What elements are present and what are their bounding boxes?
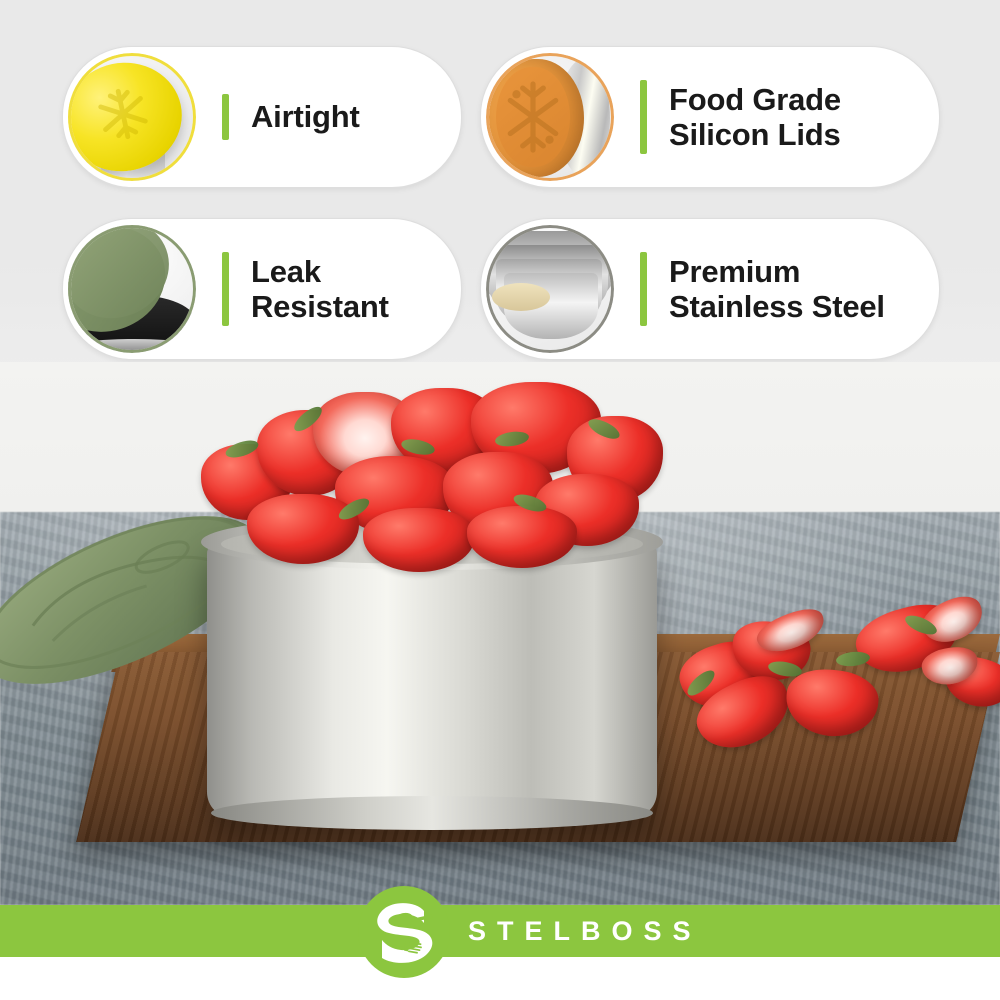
badge-accent-bar	[222, 252, 229, 326]
hero-product-photo	[0, 362, 1000, 905]
orange-silicone-lid-icon	[486, 53, 614, 181]
strawberry-pile	[195, 382, 675, 572]
feature-label-line: Food Grade	[669, 82, 841, 117]
nested-steel-bowls-icon	[486, 225, 614, 353]
yellow-silicone-lid-icon	[68, 53, 196, 181]
feature-label-food-grade-silicon-lids: Food Grade Silicon Lids	[669, 82, 841, 152]
green-lid-open-container-icon	[68, 225, 196, 353]
feature-badge-premium-stainless-steel[interactable]: Premium Stainless Steel	[480, 218, 940, 360]
feature-badge-grid: Airtight	[62, 46, 938, 358]
feature-label-line: Silicon Lids	[669, 117, 841, 152]
logo-s-glyph	[367, 895, 441, 969]
brand-name: STELBOSS	[468, 916, 702, 947]
feature-label-line: Leak	[251, 254, 389, 289]
badge-accent-bar	[640, 252, 647, 326]
badge-accent-bar	[640, 80, 647, 154]
feature-badge-food-grade-silicon-lids[interactable]: Food Grade Silicon Lids	[480, 46, 940, 188]
stelboss-spoon-fork-s-logo	[358, 886, 450, 978]
feature-label-leak-resistant: Leak Resistant	[251, 254, 389, 324]
product-infographic: Airtight	[0, 0, 1000, 1000]
feature-label-premium-stainless-steel: Premium Stainless Steel	[669, 254, 885, 324]
badge-accent-bar	[222, 94, 229, 140]
loose-strawberries	[660, 600, 1000, 760]
feature-label-line: Stainless Steel	[669, 289, 885, 324]
stainless-steel-container	[207, 540, 657, 818]
feature-badge-airtight[interactable]: Airtight	[62, 46, 462, 188]
feature-badge-leak-resistant[interactable]: Leak Resistant	[62, 218, 462, 360]
feature-label-line: Resistant	[251, 289, 389, 324]
feature-label-line: Premium	[669, 254, 885, 289]
feature-label-airtight: Airtight	[251, 99, 360, 134]
